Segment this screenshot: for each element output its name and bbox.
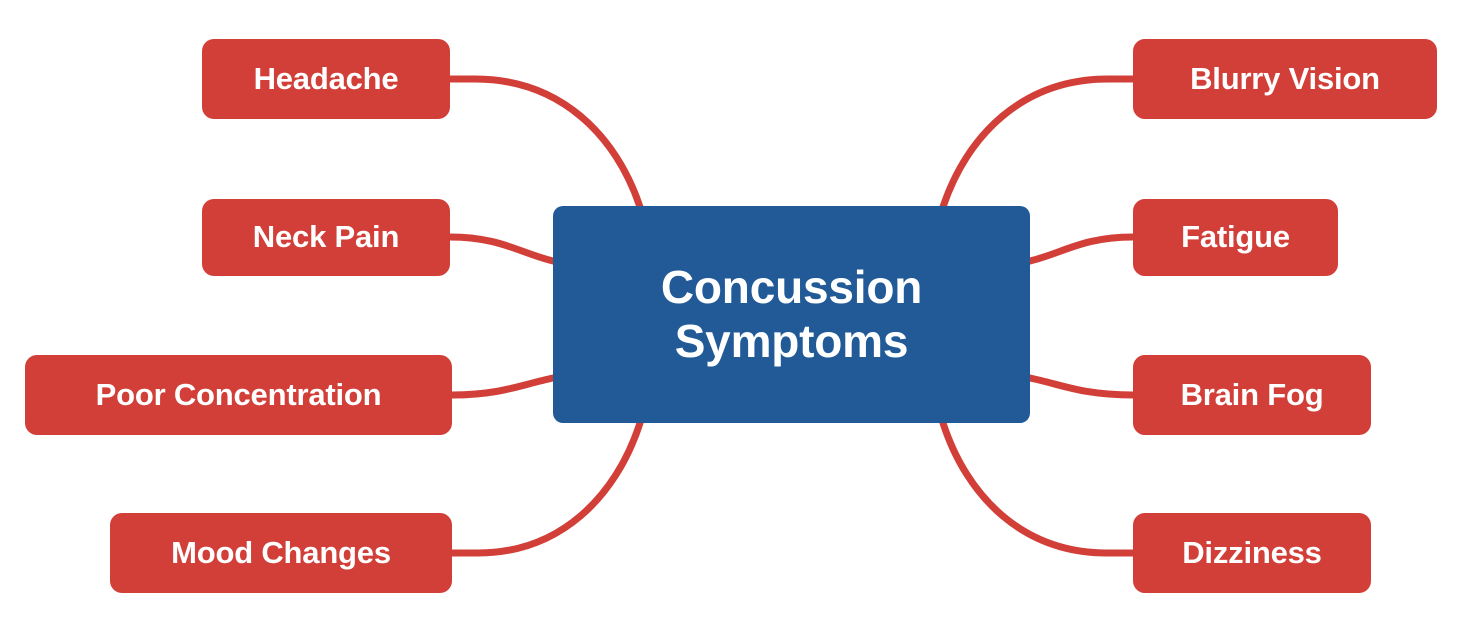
branch-node-neck-pain[interactable]: Neck Pain — [202, 199, 450, 276]
connector-brain-fog — [1030, 378, 1133, 395]
branch-node-mood-changes-label: Mood Changes — [171, 536, 391, 570]
connector-blurry-vision — [943, 79, 1133, 207]
branch-node-headache[interactable]: Headache — [202, 39, 450, 119]
branch-node-dizziness-label: Dizziness — [1182, 536, 1321, 570]
branch-node-brain-fog-label: Brain Fog — [1181, 378, 1324, 412]
branch-node-mood-changes[interactable]: Mood Changes — [110, 513, 452, 593]
branch-node-blurry-vision[interactable]: Blurry Vision — [1133, 39, 1437, 119]
branch-node-neck-pain-label: Neck Pain — [253, 220, 399, 254]
connector-headache — [450, 79, 640, 207]
branch-node-poor-concentration-label: Poor Concentration — [96, 378, 382, 412]
branch-node-brain-fog[interactable]: Brain Fog — [1133, 355, 1371, 435]
connector-dizziness — [943, 423, 1133, 553]
central-node-label-line1: Concussion — [661, 261, 922, 315]
central-node-concussion-symptoms[interactable]: Concussion Symptoms — [553, 206, 1030, 423]
connector-poor-concentration — [452, 378, 553, 395]
branch-node-fatigue[interactable]: Fatigue — [1133, 199, 1338, 276]
connector-fatigue — [1030, 237, 1133, 261]
connector-mood-changes — [452, 423, 640, 553]
branch-node-headache-label: Headache — [254, 62, 399, 96]
branch-node-fatigue-label: Fatigue — [1181, 220, 1290, 254]
central-node-label-line2: Symptoms — [675, 315, 909, 369]
branch-node-blurry-vision-label: Blurry Vision — [1190, 62, 1380, 96]
connector-neck-pain — [450, 237, 553, 261]
branch-node-poor-concentration[interactable]: Poor Concentration — [25, 355, 452, 435]
branch-node-dizziness[interactable]: Dizziness — [1133, 513, 1371, 593]
mind-map-canvas: Concussion Symptoms Headache Neck Pain P… — [0, 0, 1462, 626]
